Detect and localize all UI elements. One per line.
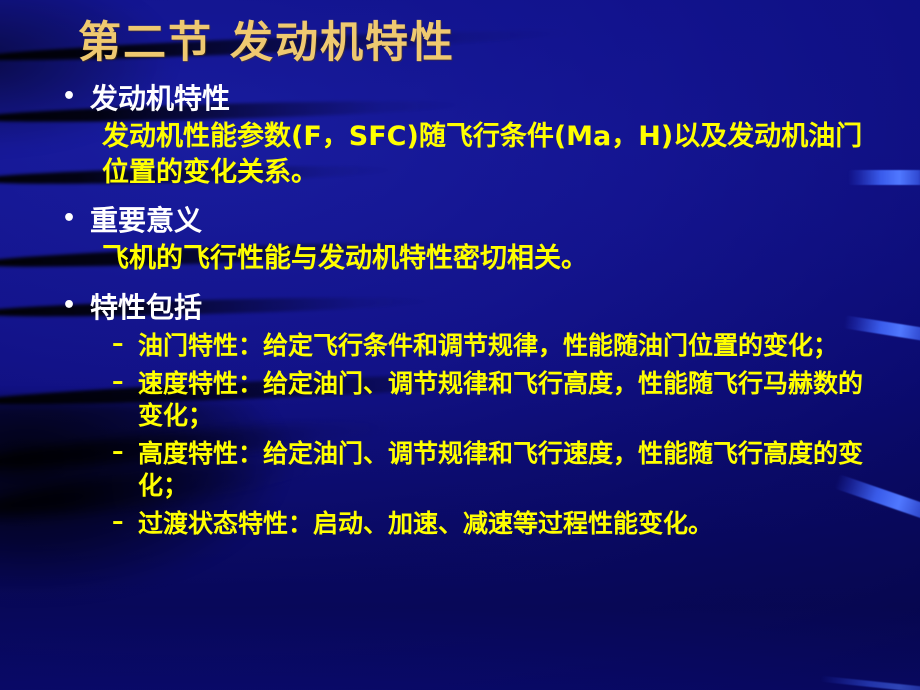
bullet-heading-label: 特性包括 bbox=[90, 291, 862, 324]
bullet-heading-label: 发动机特性 bbox=[90, 82, 862, 115]
dash-bullet-icon: – bbox=[112, 438, 138, 467]
bullet-heading-label: 重要意义 bbox=[90, 204, 862, 237]
presentation-slide: 第二节 发动机特性 • 发动机特性 发动机性能参数(F，SFC)随飞行条件(Ma… bbox=[0, 0, 920, 690]
sub-bullet-label: 速度特性：给定油门、调节规律和飞行高度，性能随飞行马赫数的变化； bbox=[138, 368, 872, 432]
sub-bullet-speed-characteristic: – 速度特性：给定油门、调节规律和飞行高度，性能随飞行马赫数的变化； bbox=[112, 368, 872, 432]
bullet-dot-icon: • bbox=[62, 291, 90, 321]
sub-bullet-label: 高度特性：给定油门、调节规律和飞行速度，性能随飞行高度的变化； bbox=[138, 438, 872, 502]
sub-bullet-transient-characteristic: – 过渡状态特性：启动、加速、减速等过程性能变化。 bbox=[112, 508, 872, 540]
sub-bullet-label: 过渡状态特性：启动、加速、减速等过程性能变化。 bbox=[138, 508, 872, 540]
slide-body: • 发动机特性 发动机性能参数(F，SFC)随飞行条件(Ma，H)以及发动机油门… bbox=[62, 82, 862, 546]
sub-bullet-label: 油门特性：给定飞行条件和调节规律，性能随油门位置的变化； bbox=[138, 330, 872, 362]
bullet-dot-icon: • bbox=[62, 204, 90, 234]
paragraph-importance: 飞机的飞行性能与发动机特性密切相关。 bbox=[102, 241, 872, 277]
bullet-item-characteristics-include: • 特性包括 bbox=[62, 291, 862, 324]
dash-bullet-icon: – bbox=[112, 508, 138, 537]
dash-bullet-icon: – bbox=[112, 330, 138, 359]
bullet-dot-icon: • bbox=[62, 82, 90, 112]
slide-title: 第二节 发动机特性 bbox=[78, 8, 455, 70]
paragraph-engine-characteristics: 发动机性能参数(F，SFC)随飞行条件(Ma，H)以及发动机油门位置的变化关系。 bbox=[102, 119, 872, 190]
dash-bullet-icon: – bbox=[112, 368, 138, 397]
bullet-item-importance: • 重要意义 bbox=[62, 204, 862, 237]
sub-bullet-altitude-characteristic: – 高度特性：给定油门、调节规律和飞行速度，性能随飞行高度的变化； bbox=[112, 438, 872, 502]
slide-content: 第二节 发动机特性 • 发动机特性 发动机性能参数(F，SFC)随飞行条件(Ma… bbox=[0, 0, 920, 690]
bullet-item-engine-characteristics: • 发动机特性 bbox=[62, 82, 862, 115]
sub-bullet-throttle-characteristic: – 油门特性：给定飞行条件和调节规律，性能随油门位置的变化； bbox=[112, 330, 872, 362]
